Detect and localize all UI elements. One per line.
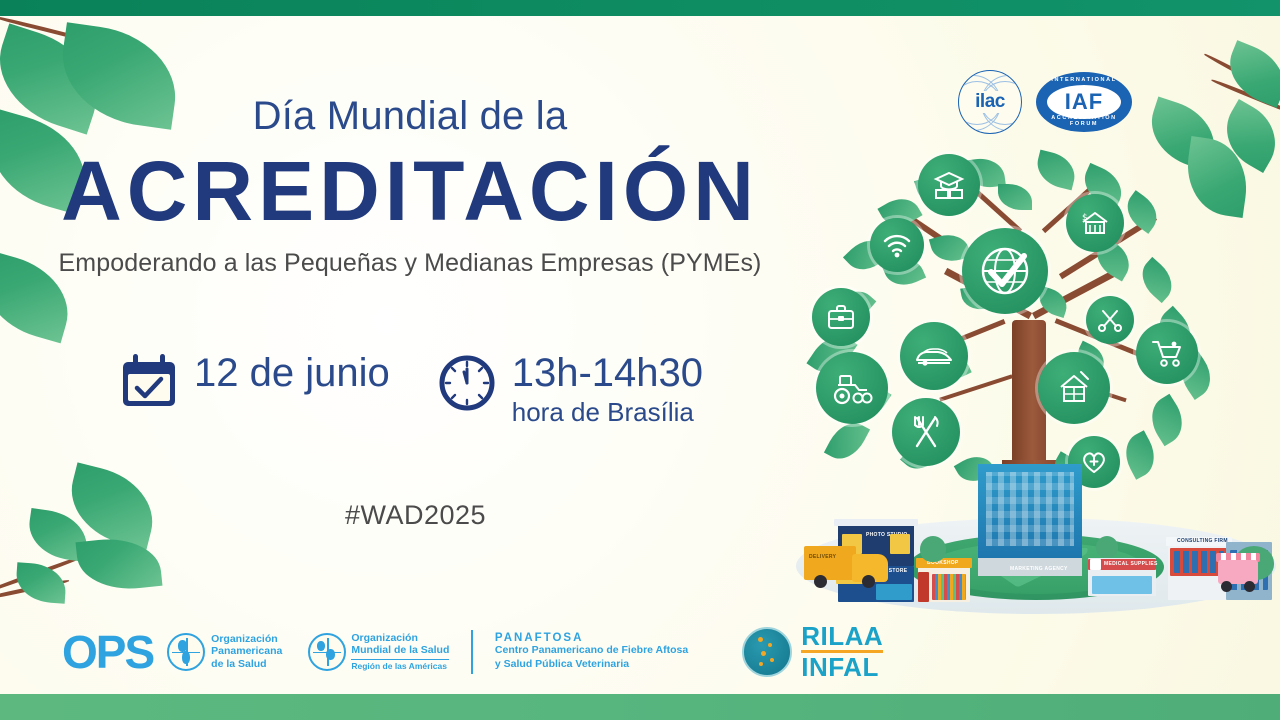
node-scissors-icon — [1086, 296, 1134, 344]
node-house-construction-icon — [1038, 352, 1110, 424]
panaftosa-title: PANAFTOSA — [495, 632, 688, 644]
subtitle-text: Empoderando a las Pequeñas y Medianas Em… — [0, 249, 820, 278]
paho-line-1: Organización — [211, 633, 282, 645]
marketing-agency-tower — [978, 464, 1082, 576]
bottom-green-bar — [0, 694, 1280, 720]
city-platform: PHOTO STUDIO OFFICE SUPPLY STORE BOOKSHO… — [796, 502, 1276, 632]
node-shopping-cart-icon — [1136, 322, 1198, 384]
node-graduation-book-icon — [918, 154, 980, 216]
node-bank-house-icon: $ — [1066, 194, 1124, 252]
event-hashtag: #WAD2025 — [345, 500, 486, 531]
ops-wordmark: OPS — [62, 629, 153, 675]
car-icon — [914, 343, 954, 369]
photo-window-2 — [890, 534, 910, 554]
who-logo: Organización Mundial de la Salud Región … — [308, 632, 449, 671]
event-meta-row: 12 de junio 13h-14h30 hora de Brasília — [118, 352, 703, 428]
medical-cross-icon — [1090, 559, 1101, 570]
logo-divider — [471, 630, 473, 674]
delivery-van-label: DELIVERY — [809, 554, 836, 560]
partner-logo-row: OPS Organización Panamericana de la Salu… — [62, 623, 883, 680]
rilaa-line-2: INFAL — [801, 654, 883, 680]
bookshop-shelf — [932, 574, 966, 600]
wifi-icon — [882, 230, 912, 260]
iaf-label: IAF — [1065, 89, 1103, 115]
who-line-2: Mundial de la Salud — [351, 644, 449, 656]
event-time-item: 13h-14h30 hora de Brasília — [436, 352, 703, 428]
node-tractor-icon — [816, 352, 888, 424]
scissors-icon — [1097, 307, 1123, 333]
accreditation-tree-and-city: $ — [790, 140, 1280, 640]
bank-house-icon: $ — [1079, 208, 1111, 238]
graduation-book-icon — [932, 168, 966, 202]
svg-text:$: $ — [1082, 213, 1088, 223]
page-title: ACREDITACIÓN — [0, 148, 820, 235]
top-green-bar — [0, 0, 1280, 16]
who-globe-icon — [308, 633, 346, 671]
bookshop-door — [918, 572, 929, 602]
medical-supplies-label: MEDICAL SUPPLIES — [1104, 561, 1158, 567]
paho-globe-icon — [167, 633, 205, 671]
node-cutlery-icon — [892, 398, 960, 466]
photo-studio-roof — [834, 519, 918, 526]
poster-canvas: ilac INTERNATIONAL IAF ACCREDITATION FOR… — [0, 0, 1280, 720]
iaf-bottom-arc-label: ACCREDITATION FORUM — [1036, 115, 1132, 127]
who-region-label: Región de las Américas — [351, 659, 449, 672]
event-date-text: 12 de junio — [194, 352, 390, 395]
medical-glass — [1092, 576, 1152, 594]
briefcase-icon — [825, 301, 857, 333]
event-date-item: 12 de junio — [118, 352, 390, 414]
calendar-check-icon — [118, 352, 180, 414]
node-briefcase-icon — [812, 288, 870, 346]
who-line-1: Organización — [351, 632, 449, 644]
iaf-top-arc-label: INTERNATIONAL — [1036, 77, 1132, 83]
ice-cream-cart — [1216, 552, 1260, 592]
paho-line-2: Panamericana — [211, 645, 282, 657]
kicker-text: Día Mundial de la — [0, 96, 820, 136]
delivery-van: DELIVERY — [804, 542, 890, 588]
tractor-icon — [831, 371, 873, 405]
iaf-logo: INTERNATIONAL IAF ACCREDITATION FORUM — [1036, 72, 1132, 132]
cutlery-icon — [909, 413, 943, 451]
event-time-text: 13h-14h30 — [512, 352, 703, 395]
node-globe-check-icon — [962, 228, 1048, 314]
city-tree-mid — [1096, 536, 1118, 558]
node-car-icon — [900, 322, 968, 390]
city-tree-left — [920, 536, 946, 562]
node-wifi-icon — [870, 218, 924, 272]
rilaa-globe-icon — [742, 627, 792, 677]
ilac-logo: ilac — [958, 70, 1022, 134]
paho-line-3: de la Salud — [211, 658, 282, 670]
globe-check-icon — [978, 244, 1032, 298]
marketing-agency-label: MARKETING AGENCY — [1010, 566, 1068, 572]
heart-medical-icon — [1080, 449, 1108, 475]
accreditation-logos: ilac INTERNATIONAL IAF ACCREDITATION FOR… — [958, 70, 1132, 134]
panaftosa-logo: PANAFTOSA Centro Panamericano de Fiebre … — [495, 632, 688, 672]
paho-logo: Organización Panamericana de la Salud — [167, 633, 282, 671]
house-construction-icon — [1055, 369, 1093, 407]
event-timezone-text: hora de Brasília — [512, 397, 703, 428]
panaftosa-line-2: y Salud Pública Veterinaria — [495, 658, 688, 672]
consulting-firm-label: CONSULTING FIRM — [1177, 538, 1228, 544]
panaftosa-line-1: Centro Panamericano de Fiebre Aftosa — [495, 644, 688, 658]
shopping-cart-icon — [1150, 338, 1184, 368]
headline-block: Día Mundial de la ACREDITACIÓN Empoderan… — [0, 96, 820, 278]
clock-icon — [436, 352, 498, 414]
ilac-label: ilac — [973, 91, 1007, 113]
